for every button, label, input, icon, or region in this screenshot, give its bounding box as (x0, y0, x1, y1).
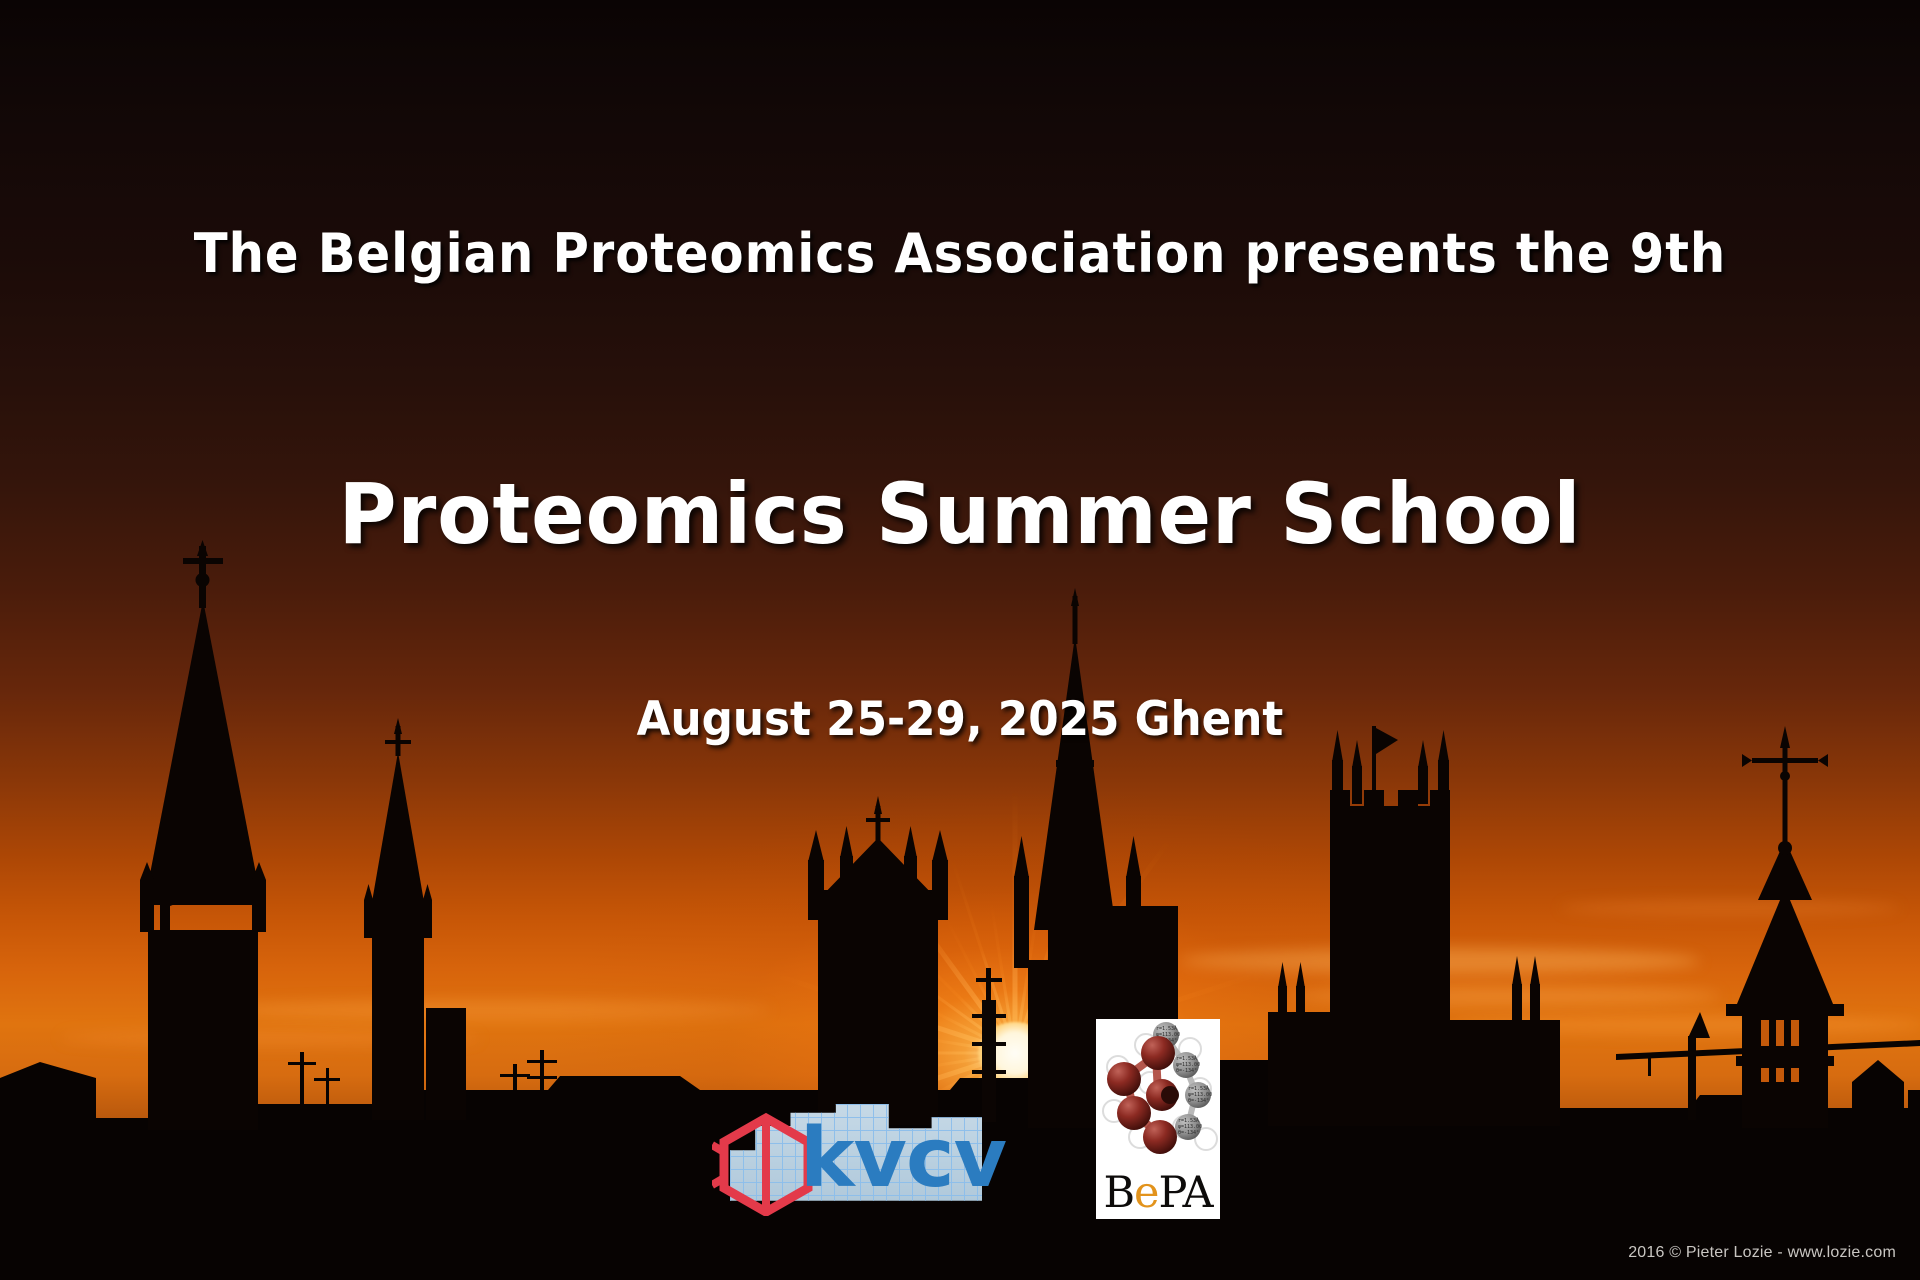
svg-text:r=1.53Å: r=1.53Å (1156, 1025, 1177, 1032)
kvcv-logo[interactable]: kvcv (712, 1108, 1012, 1220)
page-headline: The Belgian Proteomics Association prese… (77, 222, 1843, 285)
kvcv-wordmark: kvcv (800, 1118, 1006, 1200)
svg-text:θ=-134°: θ=-134° (1176, 1068, 1197, 1074)
bepa-letters-pa: PA (1159, 1168, 1213, 1218)
bepa-logo[interactable]: r=1.53Å φ=113.00 θ=-134° r=1.53Å φ=113.0… (1096, 1019, 1220, 1219)
photo-credit: 2016 © Pieter Lozie - www.lozie.com (1628, 1244, 1896, 1262)
svg-text:r=1.53Å: r=1.53Å (1176, 1055, 1197, 1062)
bepa-wordmark: BePA (1096, 1172, 1220, 1215)
svg-text:r=1.53Å: r=1.53Å (1178, 1117, 1199, 1124)
page-title: Proteomics Summer School (58, 465, 1863, 563)
svg-text:r=1.53Å: r=1.53Å (1188, 1085, 1209, 1092)
sky-gradient (0, 0, 1920, 1280)
sun-disc (978, 1022, 1052, 1084)
poster-canvas: The Belgian Proteomics Association prese… (0, 0, 1920, 1280)
event-date-location: August 25-29, 2025 Ghent (67, 692, 1853, 747)
bepa-molecule-icon: r=1.53Å φ=113.00 θ=-134° r=1.53Å φ=113.0… (1096, 1019, 1220, 1169)
svg-text:θ=-134°: θ=-134° (1178, 1130, 1199, 1136)
svg-text:θ=-134°: θ=-134° (1188, 1098, 1209, 1104)
bepa-letter-e: e (1134, 1168, 1158, 1218)
bepa-letter-b: B (1103, 1168, 1134, 1218)
